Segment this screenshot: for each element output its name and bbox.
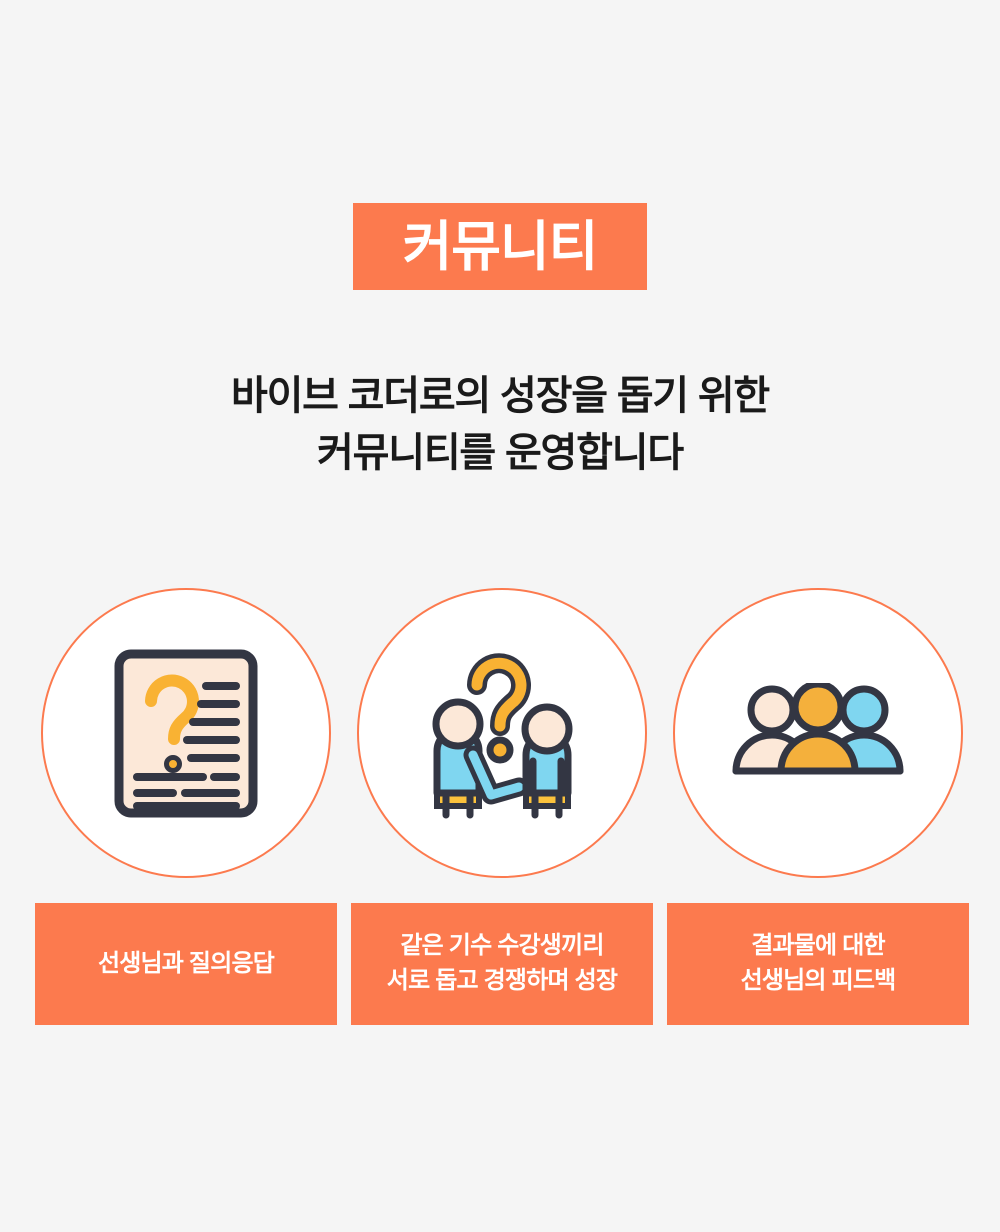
feature-caption-qna-line-1: 선생님과 질의응답: [98, 947, 274, 982]
two-people-question-icon: [415, 643, 590, 823]
section-badge-label: 커뮤니티: [403, 220, 598, 274]
feature-card-list: 선생님과 질의응답: [35, 588, 965, 1025]
feature-caption-peers-line-1: 같은 기수 수강생끼리: [400, 929, 603, 964]
feature-caption-peers-line-2: 서로 돕고 경쟁하며 성장: [387, 964, 617, 999]
icon-circle-peers: [357, 588, 647, 878]
section-badge: 커뮤니티: [353, 203, 647, 290]
group-of-three-people-icon: [728, 683, 908, 783]
icon-circle-qna: [41, 588, 331, 878]
page-title: 바이브 코더로의 성장을 돕기 위한 커뮤니티를 운영합니다: [0, 368, 1000, 482]
feature-card-peers: 같은 기수 수강생끼리 서로 돕고 경쟁하며 성장: [351, 588, 653, 1025]
document-question-icon: [111, 646, 261, 821]
page-title-line-2: 커뮤니티를 운영합니다: [0, 425, 1000, 482]
feature-caption-feedback: 결과물에 대한 선생님의 피드백: [667, 903, 969, 1025]
feature-card-feedback: 결과물에 대한 선생님의 피드백: [667, 588, 969, 1025]
icon-circle-feedback: [673, 588, 963, 878]
page-title-line-1: 바이브 코더로의 성장을 돕기 위한: [0, 368, 1000, 425]
feature-caption-feedback-line-2: 선생님의 피드백: [741, 964, 896, 999]
feature-caption-feedback-line-1: 결과물에 대한: [751, 929, 885, 964]
feature-caption-qna: 선생님과 질의응답: [35, 903, 337, 1025]
feature-caption-peers: 같은 기수 수강생끼리 서로 돕고 경쟁하며 성장: [351, 903, 653, 1025]
community-section: 커뮤니티 바이브 코더로의 성장을 돕기 위한 커뮤니티를 운영합니다: [0, 0, 1000, 1232]
feature-card-qna: 선생님과 질의응답: [35, 588, 337, 1025]
